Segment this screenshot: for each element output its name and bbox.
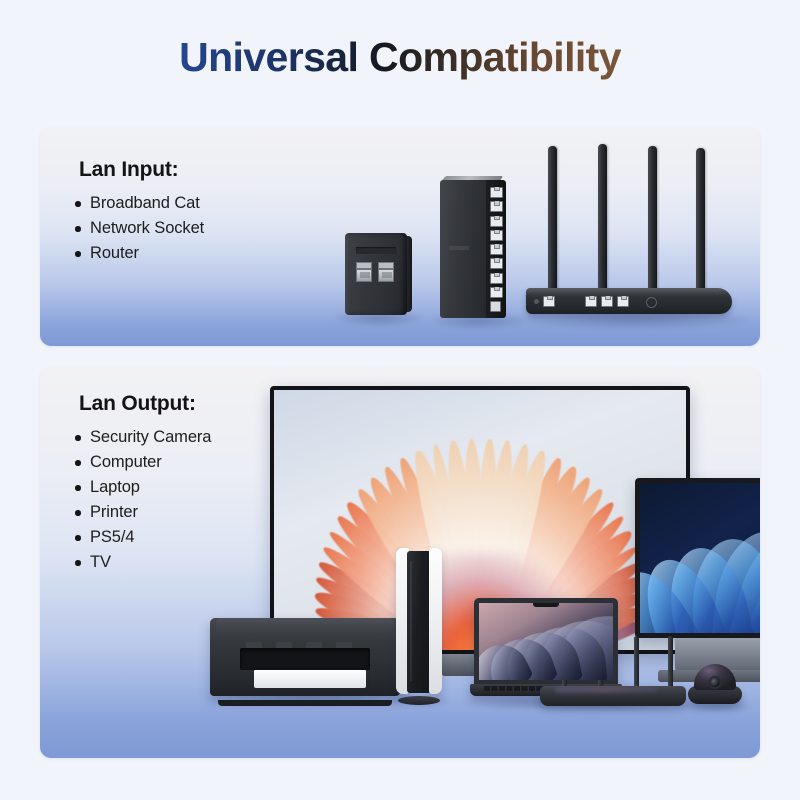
router-reset-button (646, 297, 657, 308)
switch-brand-mark (449, 246, 469, 250)
lan-input-heading: Lan Input: (79, 158, 204, 182)
router-antenna (634, 636, 639, 692)
list-item: TV (75, 550, 211, 575)
list-item: Network Socket (75, 216, 204, 241)
switch-power-indicator (490, 301, 501, 312)
wifi-router-device (520, 138, 735, 320)
ps5-right-panel (429, 548, 442, 694)
ps5-console-device (396, 548, 442, 700)
switch-front-face (440, 180, 486, 318)
router-antenna (668, 636, 673, 692)
wall-socket-label-strip (356, 247, 396, 254)
jack-port (378, 269, 394, 282)
switch-port-column (486, 180, 506, 318)
router-antenna (648, 146, 657, 298)
lan-output-panel-inner: Lan Output: Security Camera Computer Lap… (40, 368, 760, 758)
lan-output-heading: Lan Output: (79, 392, 211, 416)
list-item: Computer (75, 450, 211, 475)
rj45-port (490, 287, 503, 298)
rj45-port (490, 273, 503, 284)
router-base (540, 686, 686, 706)
printer-base (218, 700, 392, 706)
printer-paper-sheet (254, 670, 366, 688)
router-port-group (534, 296, 629, 307)
camera-dome (694, 664, 736, 690)
printer-device (210, 608, 400, 696)
network-switch-device (440, 176, 506, 318)
rj45-port (490, 258, 503, 269)
list-item: Printer (75, 500, 211, 525)
dome-security-camera-device (688, 664, 742, 710)
rj45-port (585, 296, 597, 307)
list-item: PS5/4 (75, 525, 211, 550)
computer-bezel (635, 478, 760, 638)
rj45-jack (356, 262, 372, 282)
rj45-port (490, 230, 503, 241)
rj45-jack (378, 262, 394, 282)
page-title: Universal Compatibility (179, 34, 621, 81)
list-item: Router (75, 241, 204, 266)
rj45-port (490, 244, 503, 255)
router-indicator-dot (534, 299, 539, 304)
camera-lens (709, 676, 722, 689)
computer-screen (640, 483, 760, 633)
lan-input-text-block: Lan Input: Broadband Cat Network Socket … (75, 158, 204, 266)
lan-input-panel: Lan Input: Broadband Cat Network Socket … (40, 128, 760, 346)
wall-socket-body (345, 233, 407, 315)
rj45-port (543, 296, 555, 307)
lan-output-panel: Lan Output: Security Camera Computer Lap… (40, 368, 760, 758)
jack-port (356, 269, 372, 282)
rj45-port (601, 296, 613, 307)
rj45-port (490, 201, 503, 212)
rj45-port (617, 296, 629, 307)
rj45-port (490, 187, 503, 198)
lan-input-list: Broadband Cat Network Socket Router (75, 191, 204, 266)
rj45-port (490, 216, 503, 227)
infographic-page: Universal Compatibility Lan Input: Broad… (0, 0, 800, 800)
router-antenna (598, 144, 607, 298)
printer-lid (216, 618, 394, 634)
printer-output-slot (240, 648, 370, 670)
ps5-core-body (407, 551, 431, 693)
lan-output-text-block: Lan Output: Security Camera Computer Lap… (75, 392, 211, 575)
printer-body (210, 618, 400, 696)
laptop-lid (474, 598, 618, 686)
router-antenna (548, 146, 557, 298)
wall-socket-device (345, 233, 407, 315)
list-item: Laptop (75, 475, 211, 500)
list-item: Security Camera (75, 425, 211, 450)
router-antenna (696, 148, 705, 298)
lan-input-panel-inner: Lan Input: Broadband Cat Network Socket … (40, 128, 760, 346)
list-item: Broadband Cat (75, 191, 204, 216)
lan-output-list: Security Camera Computer Laptop Printer … (75, 425, 211, 575)
laptop-camera-notch (533, 603, 559, 607)
title-container: Universal Compatibility (0, 34, 800, 81)
ps5-stand-base (398, 696, 440, 705)
jack-cap (378, 262, 394, 269)
laptop-screen (479, 603, 613, 680)
jack-cap (356, 262, 372, 269)
